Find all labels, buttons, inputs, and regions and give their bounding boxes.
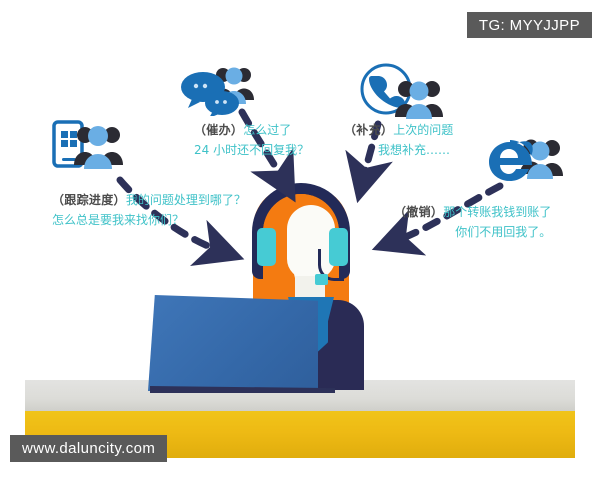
message-tag: （撤销） [394, 205, 443, 219]
message-supplement: （补充）上次的问题 我想补充…… [344, 120, 453, 160]
message-line1: 上次的问题 [393, 123, 453, 137]
message-urge: （催办）怎么过了 24 小时还不回复我？ [194, 120, 309, 160]
illustration-canvas: （跟踪进度）我的问题处理到哪了？ 怎么总是要我来找你们？ （催办）怎么过了 24… [0, 0, 600, 480]
message-line1: 怎么过了 [243, 123, 291, 137]
message-line2: 24 小时还不回复我？ [194, 140, 309, 160]
message-line2: 我想补充…… [378, 140, 453, 160]
message-track-progress: （跟踪进度）我的问题处理到哪了？ 怎么总是要我来找你们？ [52, 190, 246, 230]
message-line1: 那个转账我钱到账了 [443, 205, 551, 219]
message-tag: （催办） [194, 123, 243, 137]
message-tag: （跟踪进度） [52, 193, 126, 207]
message-line2: 你们不用回我了。 [450, 222, 551, 242]
message-line2: 怎么总是要我来找你们？ [52, 210, 246, 230]
message-cancel: （撤销）那个转账我钱到账了 你们不用回我了。 [394, 202, 551, 242]
message-line1: 我的问题处理到哪了？ [126, 193, 246, 207]
message-tag: （补充） [344, 123, 393, 137]
website-watermark: www.daluncity.com [10, 435, 167, 462]
telegram-watermark: TG: MYYJJPP [467, 12, 592, 38]
